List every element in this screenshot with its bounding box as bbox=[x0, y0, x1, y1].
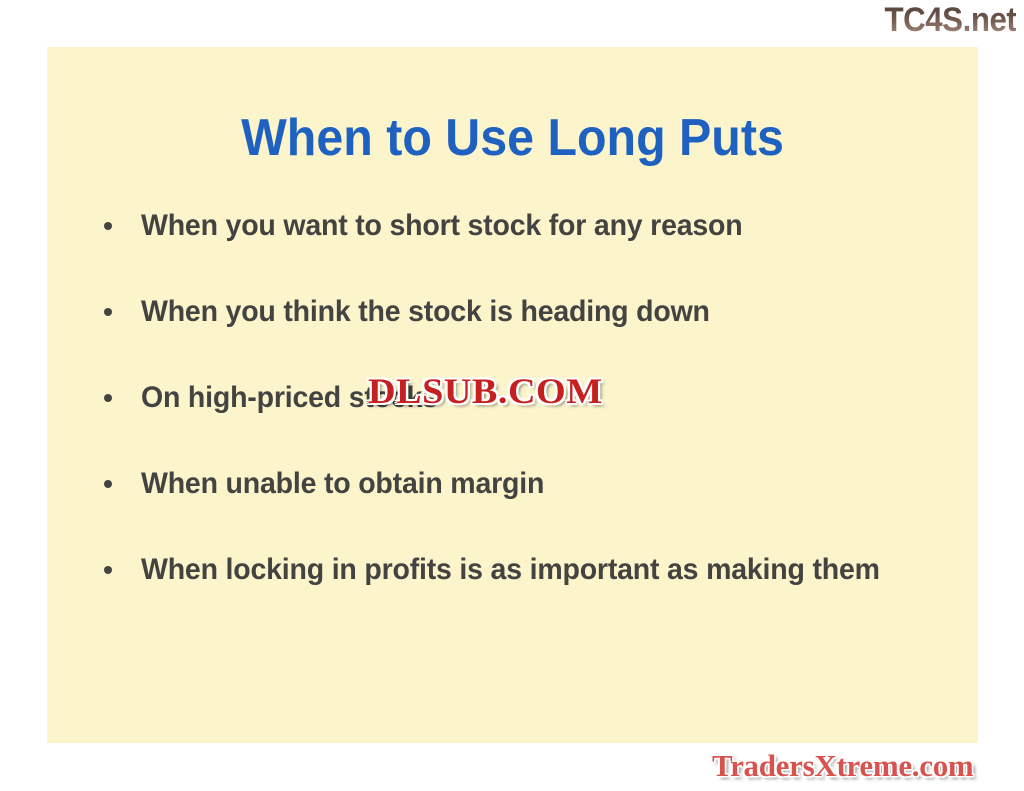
brand-logo-tradersxtreme: TradersXtreme.com bbox=[712, 748, 973, 784]
list-item: When locking in profits is as important … bbox=[96, 551, 956, 589]
list-item: When unable to obtain margin bbox=[96, 465, 956, 503]
list-item-label: When locking in profits is as important … bbox=[141, 551, 880, 589]
list-item: When you want to short stock for any rea… bbox=[96, 207, 956, 245]
list-item-label: When unable to obtain margin bbox=[141, 465, 544, 503]
page-title: When to Use Long Puts bbox=[80, 109, 946, 167]
list-item-label: When you want to short stock for any rea… bbox=[141, 207, 742, 245]
bullet-dot-icon bbox=[104, 308, 112, 316]
bullet-dot-icon bbox=[104, 480, 112, 488]
watermark-dlsub: DLSUB.COM bbox=[368, 371, 603, 411]
list-item-label: When you think the stock is heading down bbox=[141, 293, 710, 331]
bullet-dot-icon bbox=[104, 394, 112, 402]
bullet-dot-icon bbox=[104, 566, 112, 574]
bullet-dot-icon bbox=[104, 222, 112, 230]
list-item: When you think the stock is heading down bbox=[96, 293, 956, 331]
site-logo-tc4s: TC4S.net bbox=[884, 1, 1016, 39]
